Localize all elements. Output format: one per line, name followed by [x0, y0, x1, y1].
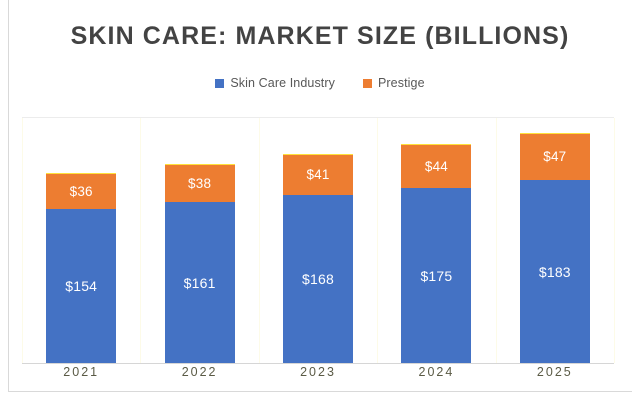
bar-segment-skin-care-industry[interactable]: $154	[46, 209, 116, 363]
legend-item-prestige[interactable]: Prestige	[363, 76, 425, 90]
bar-segment-skin-care-industry[interactable]: $183	[520, 180, 590, 363]
bar-slot: $36$154	[22, 118, 140, 363]
x-axis-tick-2022: 2022	[140, 365, 258, 379]
bar-data-label-skin-care-industry: $183	[539, 265, 571, 279]
gridline-vertical	[614, 118, 615, 363]
bar-segment-prestige[interactable]: $44	[401, 144, 471, 188]
bar-segment-prestige[interactable]: $47	[520, 133, 590, 180]
bar-data-label-skin-care-industry: $168	[302, 272, 334, 286]
legend-swatch-orange-icon	[363, 79, 372, 88]
legend-swatch-blue-icon	[215, 79, 224, 88]
bar-data-label-prestige: $41	[306, 168, 329, 182]
legend-label-skin-care-industry: Skin Care Industry	[230, 76, 335, 90]
bar-series-group: $36$154$38$161$41$168$44$175$47$183	[22, 118, 614, 363]
bar-slot: $41$168	[259, 118, 377, 363]
legend-item-skin-care-industry[interactable]: Skin Care Industry	[215, 76, 335, 90]
bar-data-label-prestige: $44	[425, 160, 448, 174]
bar-stack[interactable]: $36$154	[46, 173, 116, 363]
legend-label-prestige: Prestige	[378, 76, 425, 90]
bar-segment-skin-care-industry[interactable]: $175	[401, 188, 471, 363]
bar-data-label-skin-care-industry: $175	[420, 269, 452, 283]
bar-segment-prestige[interactable]: $38	[165, 164, 235, 202]
bar-segment-skin-care-industry[interactable]: $161	[165, 202, 235, 363]
x-axis-labels: 20212022202320242025	[22, 365, 614, 379]
plot-area: $36$154$38$161$41$168$44$175$47$183	[22, 117, 614, 364]
bar-segment-prestige[interactable]: $41	[283, 154, 353, 195]
bar-data-label-skin-care-industry: $161	[184, 276, 216, 290]
bar-stack[interactable]: $38$161	[165, 164, 235, 363]
chart-legend: Skin Care Industry Prestige	[0, 76, 640, 90]
bar-data-label-prestige: $36	[70, 185, 93, 199]
x-axis-tick-2025: 2025	[496, 365, 614, 379]
bar-slot: $38$161	[140, 118, 258, 363]
bar-stack[interactable]: $41$168	[283, 154, 353, 363]
bar-segment-prestige[interactable]: $36	[46, 173, 116, 209]
bar-stack[interactable]: $44$175	[401, 144, 471, 363]
x-axis-tick-2024: 2024	[377, 365, 495, 379]
bar-stack[interactable]: $47$183	[520, 133, 590, 363]
chart-container: SKIN CARE: MARKET SIZE (BILLIONS) Skin C…	[0, 0, 640, 403]
x-axis-tick-2023: 2023	[259, 365, 377, 379]
chart-title: SKIN CARE: MARKET SIZE (BILLIONS)	[0, 22, 640, 51]
bar-slot: $44$175	[377, 118, 495, 363]
bar-data-label-skin-care-industry: $154	[65, 279, 97, 293]
x-axis-tick-2021: 2021	[22, 365, 140, 379]
bar-data-label-prestige: $38	[188, 177, 211, 191]
bar-segment-skin-care-industry[interactable]: $168	[283, 195, 353, 363]
bar-data-label-prestige: $47	[543, 150, 566, 164]
bar-slot: $47$183	[496, 118, 614, 363]
